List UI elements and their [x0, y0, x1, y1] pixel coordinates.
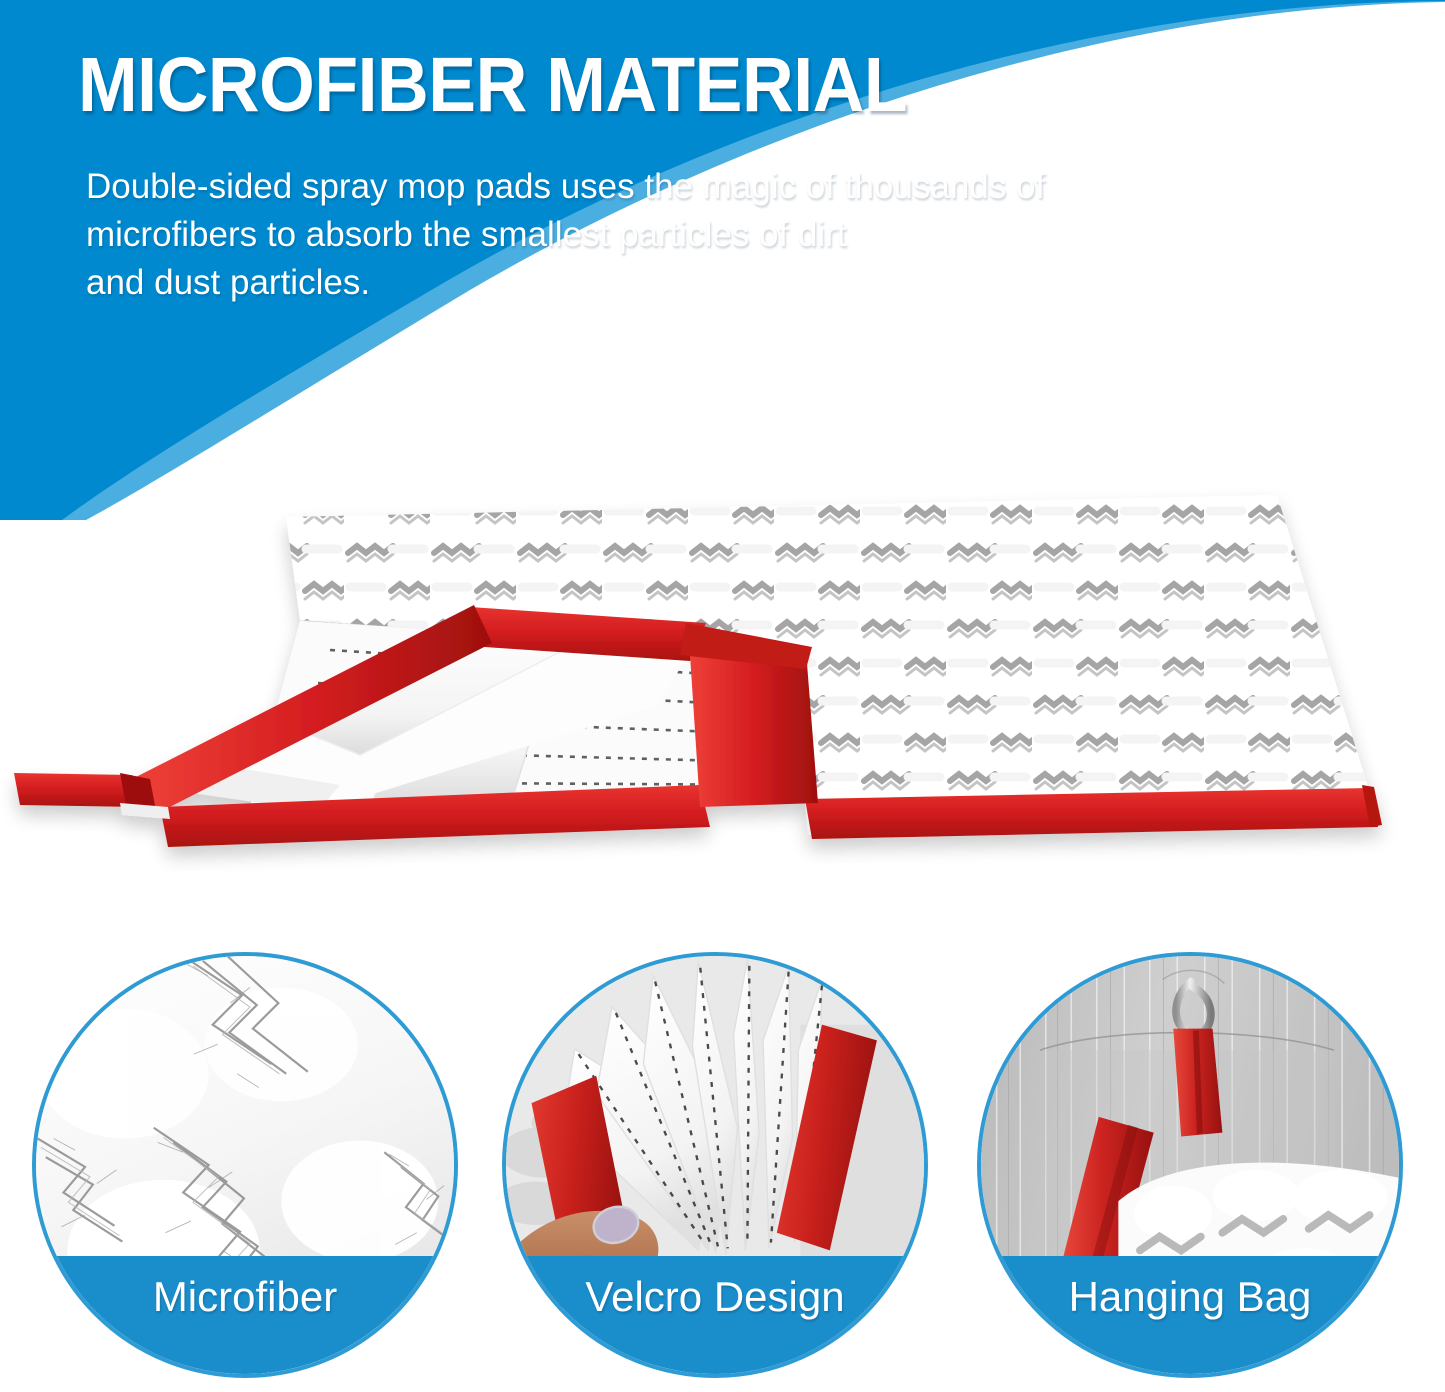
description-line: and dust particles. [86, 259, 1206, 307]
mop-pad-illustration [0, 455, 1445, 925]
page-title: MICROFIBER MATERIAL [78, 47, 1287, 124]
feature-circle-microfiber[interactable]: Microfiber [32, 952, 458, 1378]
page-description: Double-sided spray mop pads uses the mag… [86, 163, 1206, 307]
feature-label-band: Hanging Bag [977, 1256, 1403, 1374]
feature-circle-hanging-bag[interactable]: Hanging Bag [977, 952, 1403, 1378]
feature-label-band: Microfiber [32, 1256, 458, 1374]
feature-label: Hanging Bag [1069, 1274, 1312, 1320]
header-banner: MICROFIBER MATERIAL Double-sided spray m… [0, 0, 1445, 520]
feature-label: Microfiber [153, 1274, 337, 1320]
red-binding-notch-vertical [690, 651, 818, 807]
feature-circle-velcro[interactable]: Velcro Design [502, 952, 928, 1378]
description-line: Double-sided spray mop pads uses the mag… [86, 163, 1206, 211]
feature-label: Velcro Design [585, 1274, 844, 1320]
feature-label-band: Velcro Design [502, 1256, 928, 1374]
product-hero-image [0, 455, 1445, 925]
description-line: microfibers to absorb the smallest parti… [86, 211, 1206, 259]
mop-pad-body [14, 495, 1382, 847]
